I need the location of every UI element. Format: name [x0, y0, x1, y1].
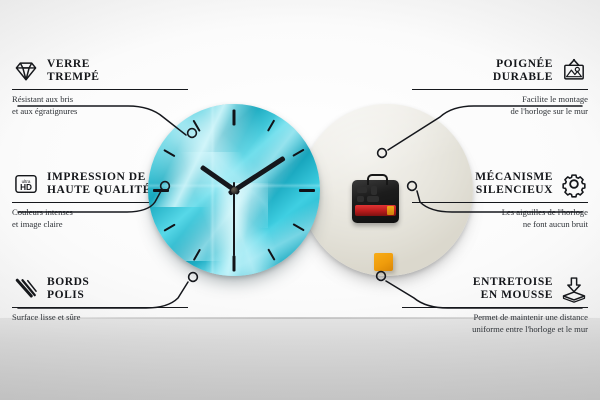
diamond-icon	[12, 57, 40, 85]
aa-battery	[355, 205, 396, 216]
foam-spacer-pad	[374, 253, 393, 271]
feature-verre-trempe: VERRE TREMPÉ Résistant aux bris et aux é…	[12, 57, 188, 117]
ultra-hd-badge-icon: ultra HD	[12, 170, 40, 198]
feature-title: ENTRETOISE EN MOUSSE	[473, 276, 553, 303]
battery-terminal	[387, 206, 394, 215]
feature-description: Permet de maintenir une distance uniform…	[402, 312, 588, 334]
feature-header: MÉCANISME SILENCIEUX	[412, 170, 588, 198]
clock-dial	[148, 104, 320, 276]
feature-header: ENTRETOISE EN MOUSSE	[402, 275, 588, 303]
movement-detail	[371, 186, 377, 195]
foam-spacer-icon	[560, 275, 588, 303]
infographic-canvas: VERRE TREMPÉ Résistant aux bris et aux é…	[0, 0, 600, 400]
hour-marker	[292, 148, 304, 157]
leader-dot-3	[189, 273, 198, 282]
feature-bords-polis: BORDS POLIS Surface lisse et sûre	[12, 275, 188, 324]
feature-divider	[12, 89, 188, 90]
feature-description: Résistant aux bris et aux égratignures	[12, 94, 188, 116]
feature-header: POIGNÉE DURABLE	[412, 57, 588, 85]
gear-icon	[560, 170, 588, 198]
hour-marker	[292, 223, 304, 232]
feature-mecanisme-silencieux: MÉCANISME SILENCIEUX Les aiguilles de l'…	[412, 170, 588, 230]
feature-divider	[12, 307, 188, 308]
feature-description: Les aiguilles de l'horloge ne font aucun…	[412, 207, 588, 229]
hour-marker	[233, 109, 236, 125]
feature-header: VERRE TREMPÉ	[12, 57, 188, 85]
hour-marker	[163, 148, 175, 157]
hour-marker	[233, 255, 236, 271]
hour-marker	[267, 248, 276, 260]
feature-entretoise-mousse: ENTRETOISE EN MOUSSE Permet de maintenir…	[402, 275, 588, 335]
feature-description: Surface lisse et sûre	[12, 312, 188, 323]
movement-detail	[357, 187, 367, 193]
polished-edges-icon	[12, 275, 40, 303]
quartz-movement	[352, 180, 399, 223]
feature-divider	[412, 202, 588, 203]
hands-center-pin	[231, 187, 238, 194]
movement-hanger-lug	[367, 174, 388, 185]
hour-marker	[153, 189, 169, 192]
badge-hd-text: HD	[20, 183, 32, 192]
hour-marker	[192, 248, 201, 260]
movement-detail	[367, 196, 379, 202]
feature-title: BORDS POLIS	[47, 276, 89, 303]
feature-title: POIGNÉE DURABLE	[493, 58, 553, 85]
movement-detail	[357, 196, 364, 202]
hanging-picture-icon	[560, 57, 588, 85]
feature-header: BORDS POLIS	[12, 275, 188, 303]
feature-divider	[412, 89, 588, 90]
hour-marker	[299, 189, 315, 192]
feather-streak	[148, 104, 268, 228]
feature-title: IMPRESSION DE HAUTE QUALITÉ	[47, 171, 151, 198]
feature-title: MÉCANISME SILENCIEUX	[475, 171, 553, 198]
feature-description: Facilite le montage de l'horloge sur le …	[412, 94, 588, 116]
hour-marker	[192, 119, 201, 131]
feature-divider	[402, 307, 588, 308]
feature-poignee-durable: POIGNÉE DURABLE Facilite le montage de l…	[412, 57, 588, 117]
hour-marker	[267, 119, 276, 131]
hour-marker	[163, 223, 175, 232]
feature-title: VERRE TREMPÉ	[47, 58, 100, 85]
